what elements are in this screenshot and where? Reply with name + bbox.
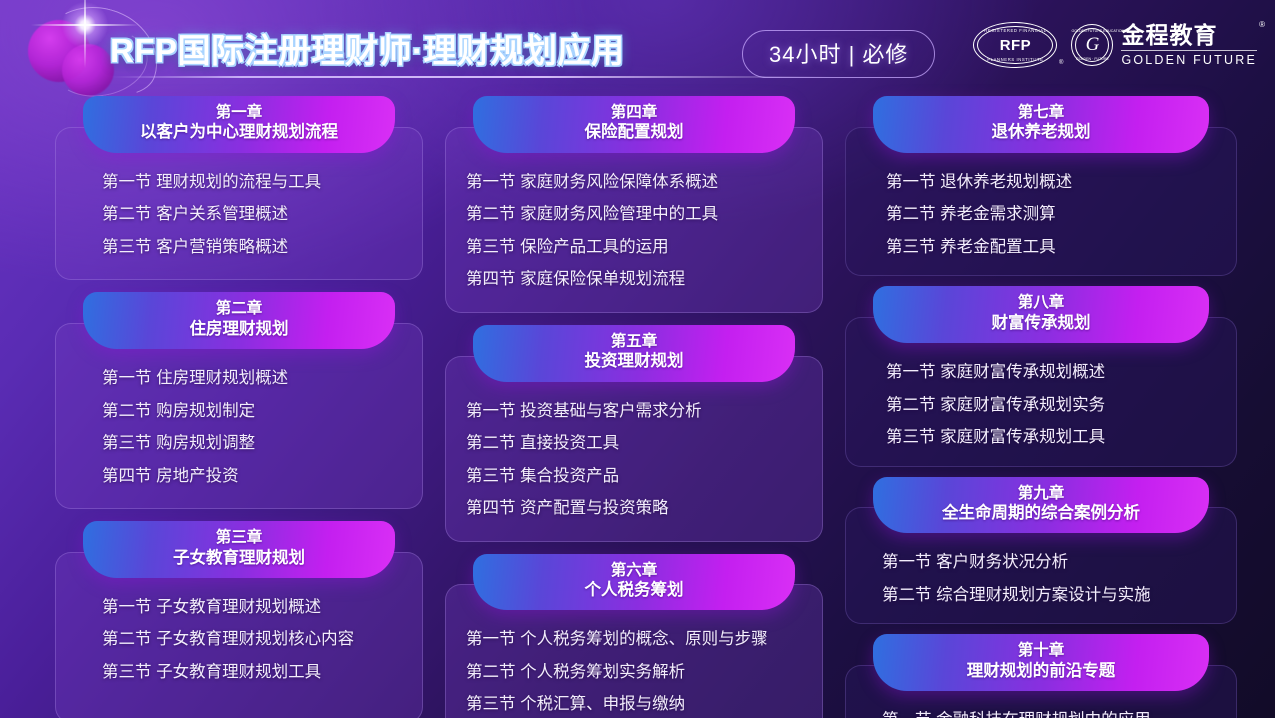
list-item[interactable]: 第三节 保险产品工具的运用: [446, 231, 822, 264]
list-item[interactable]: 第三节 家庭财富传承规划工具: [846, 421, 1236, 454]
section-list: 第一节 退休养老规划概述 第二节 养老金需求测算 第三节 养老金配置工具: [846, 166, 1236, 264]
chapter-number: 第六章: [483, 561, 785, 580]
section-list: 第一节 子女教育理财规划概述 第二节 子女教育理财规划核心内容 第三节 子女教育…: [56, 591, 422, 689]
chapter-number: 第四章: [483, 103, 785, 122]
chapter-number: 第十章: [883, 641, 1199, 660]
list-item[interactable]: 第一节 子女教育理财规划概述: [56, 591, 422, 624]
list-item[interactable]: 第三节 子女教育理财规划工具: [56, 656, 422, 689]
chapter-card-8-header: 第八章 财富传承规划: [873, 286, 1209, 343]
chapter-card-4-header: 第四章 保险配置规划: [473, 96, 795, 153]
gf-chinese-name-text: 金程教育: [1121, 22, 1217, 48]
gf-seal-bottom-text: GOLDEN · FUTURE: [1071, 57, 1113, 61]
title-underline: [112, 76, 832, 78]
chapter-column-1: 第一章 以客户为中心理财规划流程 第一节 理财规划的流程与工具 第二节 客户关系…: [55, 96, 423, 718]
list-item[interactable]: 第三节 客户营销策略概述: [56, 231, 422, 264]
chapter-title: 住房理财规划: [93, 319, 385, 340]
chapter-card-5-header: 第五章 投资理财规划: [473, 325, 795, 382]
chapter-number: 第八章: [883, 293, 1199, 312]
list-item[interactable]: 第二节 个人税务筹划实务解析: [446, 656, 822, 689]
golden-future-wordmark: 金程教育 ® GOLDEN FUTURE: [1121, 23, 1257, 66]
rfp-arc-bottom-text: PLANNERS INSTITUTE: [973, 57, 1057, 62]
chapter-title: 个人税务筹划: [483, 580, 785, 601]
section-list: 第一节 金融科技在理财规划中的应用 第二节 可持续金融与家族责任投资: [846, 704, 1236, 718]
list-item[interactable]: 第三节 集合投资产品: [446, 460, 822, 493]
list-item[interactable]: 第二节 购房规划制定: [56, 395, 422, 428]
chapter-column-2: 第四章 保险配置规划 第一节 家庭财务风险保障体系概述 第二节 家庭财务风险管理…: [445, 96, 823, 718]
gf-english-name: GOLDEN FUTURE: [1121, 53, 1257, 67]
page-header: RFP国际注册理财师·理财规划应用 34小时 | 必修 REGISTERED F…: [0, 0, 1275, 96]
list-item[interactable]: 第二节 子女教育理财规划核心内容: [56, 623, 422, 656]
chapter-column-3: 第七章 退休养老规划 第一节 退休养老规划概述 第二节 养老金需求测算 第三节 …: [845, 96, 1237, 718]
chapter-card-4[interactable]: 第四章 保险配置规划 第一节 家庭财务风险保障体系概述 第二节 家庭财务风险管理…: [445, 96, 823, 313]
chapter-card-9-header: 第九章 全生命周期的综合案例分析: [873, 477, 1209, 534]
chapter-card-2-body: 第一节 住房理财规划概述 第二节 购房规划制定 第三节 购房规划调整 第四节 房…: [55, 323, 423, 509]
chapter-card-1-header: 第一章 以客户为中心理财规划流程: [83, 96, 395, 153]
rfp-seal-logo: REGISTERED FINANCIAL RFP PLANNERS INSTIT…: [973, 22, 1057, 68]
list-item[interactable]: 第二节 养老金需求测算: [846, 198, 1236, 231]
list-item[interactable]: 第一节 退休养老规划概述: [846, 166, 1236, 199]
chapter-number: 第五章: [483, 332, 785, 351]
chapter-card-3[interactable]: 第三章 子女教育理财规划 第一节 子女教育理财规划概述 第二节 子女教育理财规划…: [55, 521, 423, 718]
chapter-number: 第一章: [93, 103, 385, 122]
page-title-text: RFP国际注册理财师·理财规划应用: [110, 24, 625, 72]
page-title: RFP国际注册理财师·理财规划应用: [110, 24, 625, 72]
chapter-card-1[interactable]: 第一章 以客户为中心理财规划流程 第一节 理财规划的流程与工具 第二节 客户关系…: [55, 96, 423, 280]
list-item[interactable]: 第四节 房地产投资: [56, 460, 422, 493]
golden-future-seal-icon: GOLDEN FUTURE EDUCATION G GOLDEN · FUTUR…: [1071, 24, 1113, 66]
chapter-title: 退休养老规划: [883, 122, 1199, 143]
chapter-card-7[interactable]: 第七章 退休养老规划 第一节 退休养老规划概述 第二节 养老金需求测算 第三节 …: [845, 96, 1237, 276]
list-item[interactable]: 第二节 家庭财务风险管理中的工具: [446, 198, 822, 231]
section-list: 第一节 个人税务筹划的概念、原则与步骤 第二节 个人税务筹划实务解析 第三节 个…: [446, 623, 822, 718]
chapter-card-7-header: 第七章 退休养老规划: [873, 96, 1209, 153]
golden-future-logo: GOLDEN FUTURE EDUCATION G GOLDEN · FUTUR…: [1071, 23, 1257, 66]
chapter-number: 第七章: [883, 103, 1199, 122]
list-item[interactable]: 第一节 家庭财富传承规划概述: [846, 356, 1236, 389]
list-item[interactable]: 第二节 家庭财富传承规划实务: [846, 389, 1236, 422]
list-item[interactable]: 第一节 个人税务筹划的概念、原则与步骤: [446, 623, 822, 656]
chapter-grid: 第一章 以客户为中心理财规划流程 第一节 理财规划的流程与工具 第二节 客户关系…: [55, 96, 1235, 710]
chapter-number: 第三章: [93, 528, 385, 547]
chapter-number: 第二章: [93, 299, 385, 318]
gf-divider: [1121, 50, 1257, 51]
section-list: 第一节 客户财务状况分析 第二节 综合理财规划方案设计与实施: [846, 546, 1236, 611]
list-item[interactable]: 第四节 资产配置与投资策略: [446, 492, 822, 525]
chapter-card-5-body: 第一节 投资基础与客户需求分析 第二节 直接投资工具 第三节 集合投资产品 第四…: [445, 356, 823, 542]
chapter-card-3-header: 第三章 子女教育理财规划: [83, 521, 395, 578]
list-item[interactable]: 第二节 综合理财规划方案设计与实施: [846, 579, 1236, 612]
chapter-card-2[interactable]: 第二章 住房理财规划 第一节 住房理财规划概述 第二节 购房规划制定 第三节 购…: [55, 292, 423, 509]
course-hours-badge: 34小时 | 必修: [742, 30, 935, 78]
section-list: 第一节 家庭财富传承规划概述 第二节 家庭财富传承规划实务 第三节 家庭财富传承…: [846, 356, 1236, 454]
chapter-card-10-header: 第十章 理财规划的前沿专题: [873, 634, 1209, 691]
logo-group: REGISTERED FINANCIAL RFP PLANNERS INSTIT…: [973, 22, 1257, 68]
chapter-title: 投资理财规划: [483, 351, 785, 372]
list-item[interactable]: 第二节 直接投资工具: [446, 427, 822, 460]
list-item[interactable]: 第一节 家庭财务风险保障体系概述: [446, 166, 822, 199]
list-item[interactable]: 第一节 住房理财规划概述: [56, 362, 422, 395]
chapter-title: 以客户为中心理财规划流程: [93, 122, 385, 143]
list-item[interactable]: 第三节 养老金配置工具: [846, 231, 1236, 264]
list-item[interactable]: 第二节 客户关系管理概述: [56, 198, 422, 231]
gf-chinese-name: 金程教育 ®: [1121, 23, 1257, 47]
section-list: 第一节 家庭财务风险保障体系概述 第二节 家庭财务风险管理中的工具 第三节 保险…: [446, 166, 822, 296]
chapter-card-6-header: 第六章 个人税务筹划: [473, 554, 795, 611]
chapter-card-6[interactable]: 第六章 个人税务筹划 第一节 个人税务筹划的概念、原则与步骤 第二节 个人税务筹…: [445, 554, 823, 718]
chapter-title: 理财规划的前沿专题: [883, 661, 1199, 682]
chapter-title: 财富传承规划: [883, 313, 1199, 334]
section-list: 第一节 住房理财规划概述 第二节 购房规划制定 第三节 购房规划调整 第四节 房…: [56, 362, 422, 492]
list-item[interactable]: 第四节 家庭保险保单规划流程: [446, 263, 822, 296]
list-item[interactable]: 第一节 投资基础与客户需求分析: [446, 395, 822, 428]
chapter-number: 第九章: [883, 484, 1199, 503]
chapter-card-10[interactable]: 第十章 理财规划的前沿专题 第一节 金融科技在理财规划中的应用 第二节 可持续金…: [845, 634, 1237, 718]
list-item[interactable]: 第三节 个税汇算、申报与缴纳: [446, 688, 822, 718]
chapter-card-2-header: 第二章 住房理财规划: [83, 292, 395, 349]
chapter-card-8[interactable]: 第八章 财富传承规划 第一节 家庭财富传承规划概述 第二节 家庭财富传承规划实务…: [845, 286, 1237, 466]
section-list: 第一节 投资基础与客户需求分析 第二节 直接投资工具 第三节 集合投资产品 第四…: [446, 395, 822, 525]
chapter-card-5[interactable]: 第五章 投资理财规划 第一节 投资基础与客户需求分析 第二节 直接投资工具 第三…: [445, 325, 823, 542]
gf-registered-mark: ®: [1259, 21, 1266, 29]
section-list: 第一节 理财规划的流程与工具 第二节 客户关系管理概述 第三节 客户营销策略概述: [56, 166, 422, 264]
rfp-registered-mark: ®: [1059, 60, 1063, 66]
chapter-title: 保险配置规划: [483, 122, 785, 143]
list-item[interactable]: 第三节 购房规划调整: [56, 427, 422, 460]
chapter-title: 子女教育理财规划: [93, 548, 385, 569]
list-item[interactable]: 第一节 客户财务状况分析: [846, 546, 1236, 579]
list-item[interactable]: 第一节 理财规划的流程与工具: [56, 166, 422, 199]
chapter-title: 全生命周期的综合案例分析: [883, 503, 1199, 524]
chapter-card-4-body: 第一节 家庭财务风险保障体系概述 第二节 家庭财务风险管理中的工具 第三节 保险…: [445, 127, 823, 313]
list-item[interactable]: 第一节 金融科技在理财规划中的应用: [846, 704, 1236, 718]
chapter-card-9[interactable]: 第九章 全生命周期的综合案例分析 第一节 客户财务状况分析 第二节 综合理财规划…: [845, 477, 1237, 625]
